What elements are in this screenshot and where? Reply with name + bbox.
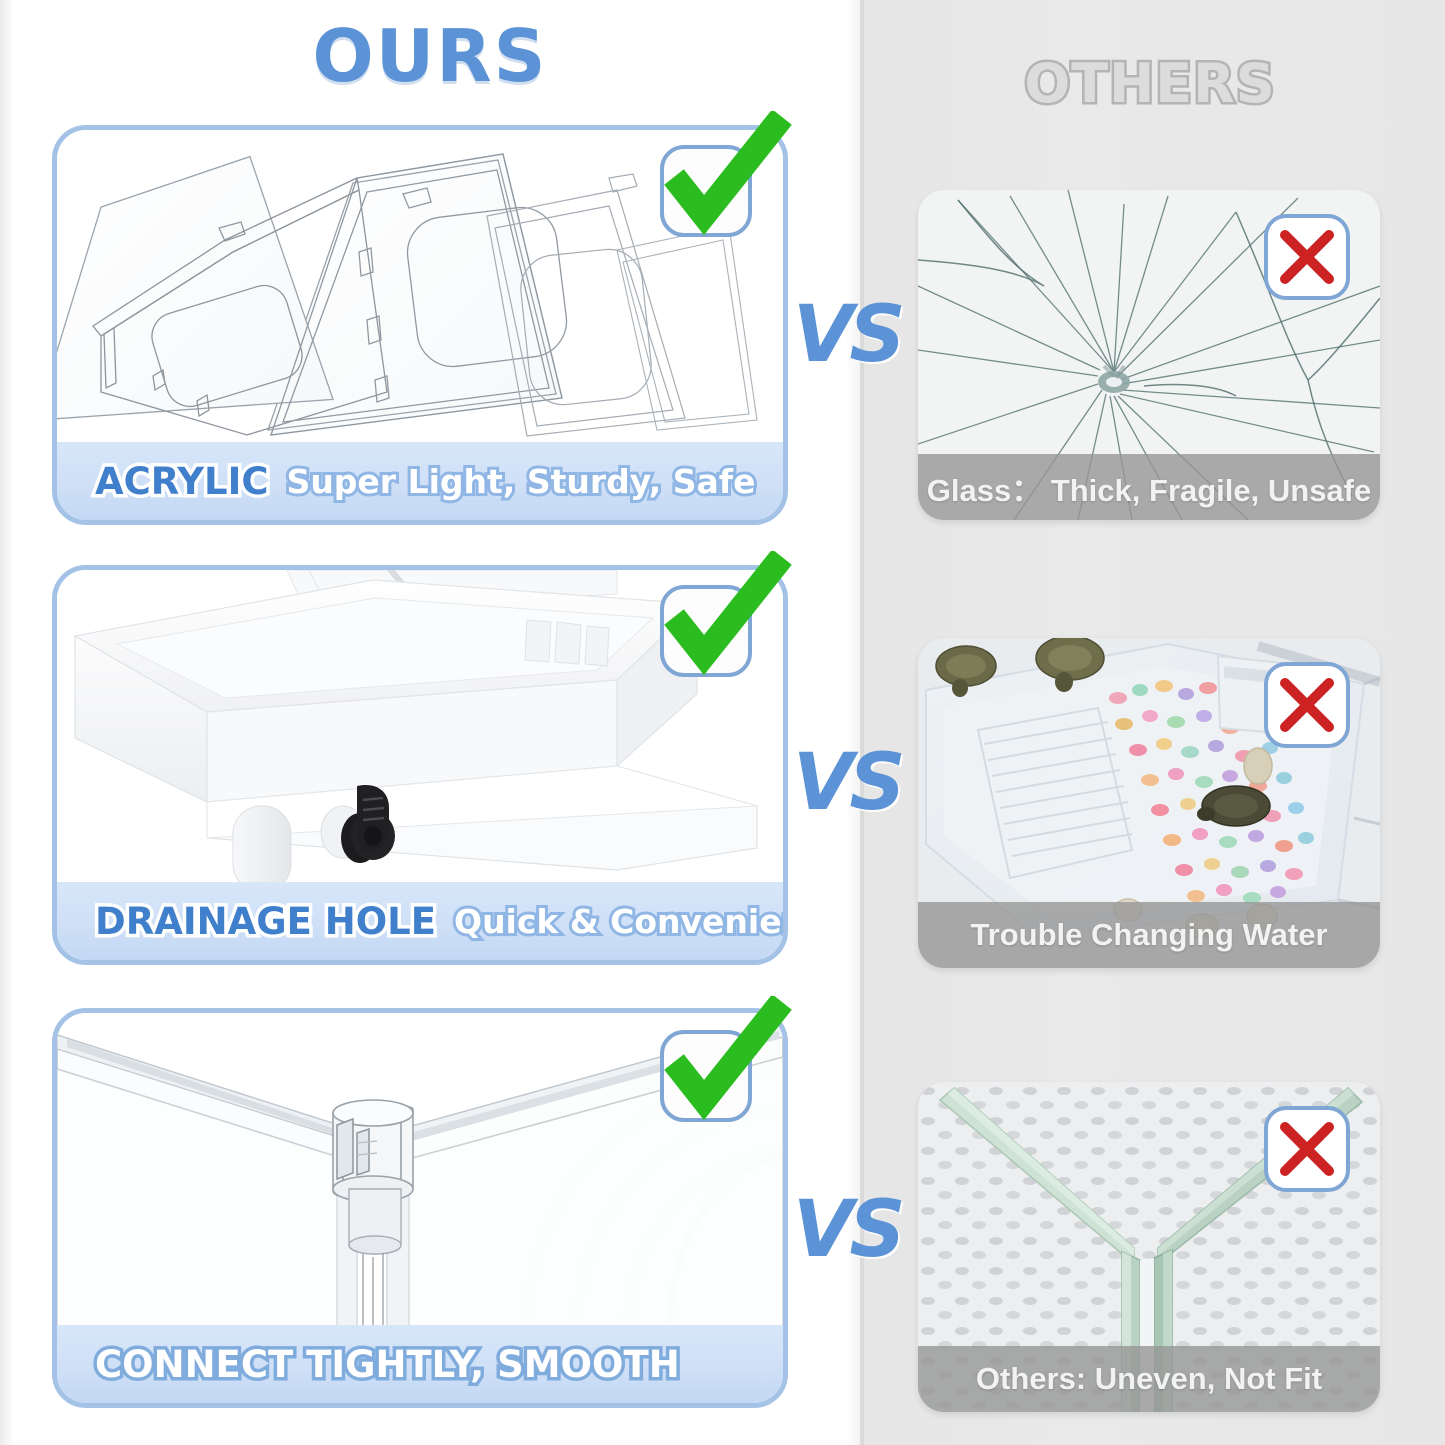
others-caption-1: Glass： Thick, Fragile, Unsafe: [918, 454, 1380, 520]
ours-caption-2: DRAINAGE HOLE Quick & Convenient: [57, 882, 783, 960]
green-check-icon: [642, 996, 792, 1126]
ours-caption-1: ACRYLIC Super Light, Sturdy, Safe: [57, 442, 783, 520]
others-caption-2: Trouble Changing Water: [918, 902, 1380, 968]
others-title: OTHERS: [955, 52, 1345, 115]
ours-caption-2-soft: Quick & Convenient: [454, 902, 788, 941]
cross-badge-2: [1264, 662, 1350, 748]
others-card-2: Trouble Changing Water: [918, 638, 1380, 968]
others-caption-3: Others: Uneven, Not Fit: [918, 1346, 1380, 1412]
green-check-icon: [642, 551, 792, 681]
comparison-infographic: OURS OTHERS: [0, 0, 1445, 1445]
green-check-icon: [642, 111, 792, 241]
ours-caption-1-soft: Super Light, Sturdy, Safe: [287, 462, 756, 501]
left-edge-gradient: [0, 0, 14, 1445]
ours-caption-2-strong: DRAINAGE HOLE: [95, 900, 436, 943]
check-badge-3: [660, 1030, 752, 1122]
red-cross-icon: [1276, 1118, 1338, 1180]
ours-caption-3-strong: CONNECT TIGHTLY, SMOOTH: [95, 1343, 680, 1386]
check-badge-1: [660, 145, 752, 237]
check-badge-2: [660, 585, 752, 677]
cross-badge-3: [1264, 1106, 1350, 1192]
cross-badge-1: [1264, 214, 1350, 300]
ours-caption-3: CONNECT TIGHTLY, SMOOTH: [57, 1325, 783, 1403]
vs-label-3: VS: [793, 1185, 902, 1275]
ours-caption-1-strong: ACRYLIC: [95, 460, 269, 503]
vs-label-2: VS: [793, 738, 902, 828]
red-cross-icon: [1276, 674, 1338, 736]
red-cross-icon: [1276, 226, 1338, 288]
vs-label-1: VS: [793, 290, 902, 380]
ours-title: OURS: [250, 14, 610, 98]
others-card-3: Others: Uneven, Not Fit: [918, 1082, 1380, 1412]
others-card-1: Glass： Thick, Fragile, Unsafe: [918, 190, 1380, 520]
